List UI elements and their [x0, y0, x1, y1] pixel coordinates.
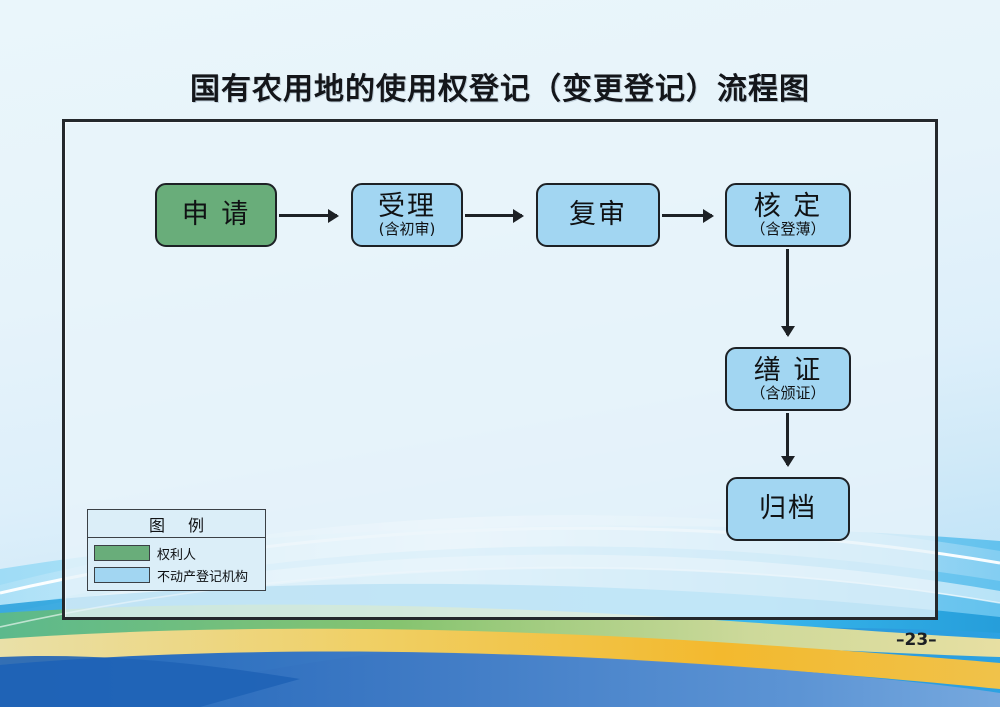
legend-item-registry: 不动产登记机构 [94, 565, 265, 585]
flow-node-accept[interactable]: 受理 (含初审) [351, 183, 463, 247]
flow-node-archive-label: 归档 [759, 495, 817, 523]
flow-node-review-label: 复审 [569, 201, 627, 229]
flow-node-apply-label: 申 请 [182, 201, 251, 229]
arrow-certify-to-archive [786, 413, 789, 465]
flow-node-certify-sublabel: （含颁证） [750, 386, 825, 401]
flow-node-apply[interactable]: 申 请 [155, 183, 277, 247]
page-number: –23– [896, 630, 937, 650]
flow-node-review[interactable]: 复审 [536, 183, 660, 247]
legend-swatch-blue [94, 567, 150, 583]
flow-node-archive[interactable]: 归档 [726, 477, 850, 541]
flow-node-approve[interactable]: 核 定 （含登薄） [725, 183, 851, 247]
flow-node-approve-sublabel: （含登薄） [750, 222, 825, 237]
arrow-apply-to-accept [279, 214, 337, 217]
flowchart-frame: 申 请 受理 (含初审) 复审 核 定 （含登薄） 缮 证 （含颁证） 归档 [62, 119, 938, 620]
legend-label-rightholder: 权利人 [157, 544, 196, 563]
flow-node-certify[interactable]: 缮 证 （含颁证） [725, 347, 851, 411]
page-title: 国有农用地的使用权登记（变更登记）流程图 [0, 64, 1000, 108]
legend-title: 图 例 [88, 510, 265, 538]
arrow-review-to-approve [662, 214, 712, 217]
flow-node-approve-label: 核 定 [754, 193, 823, 221]
flow-node-accept-sublabel: (含初审) [379, 222, 436, 237]
legend-label-registry: 不动产登记机构 [157, 566, 248, 585]
legend-item-rightholder: 权利人 [94, 543, 265, 563]
arrow-approve-to-certify [786, 249, 789, 335]
flow-node-certify-label: 缮 证 [754, 357, 823, 385]
slide-canvas: 国有农用地的使用权登记（变更登记）流程图 申 请 受理 (含初审) 复审 核 定… [0, 0, 1000, 707]
legend-box: 图 例 权利人 不动产登记机构 [87, 509, 266, 591]
legend-swatch-green [94, 545, 150, 561]
legend-rows: 权利人 不动产登记机构 [88, 538, 265, 585]
flow-node-accept-label: 受理 [378, 193, 436, 221]
arrow-accept-to-review [465, 214, 522, 217]
